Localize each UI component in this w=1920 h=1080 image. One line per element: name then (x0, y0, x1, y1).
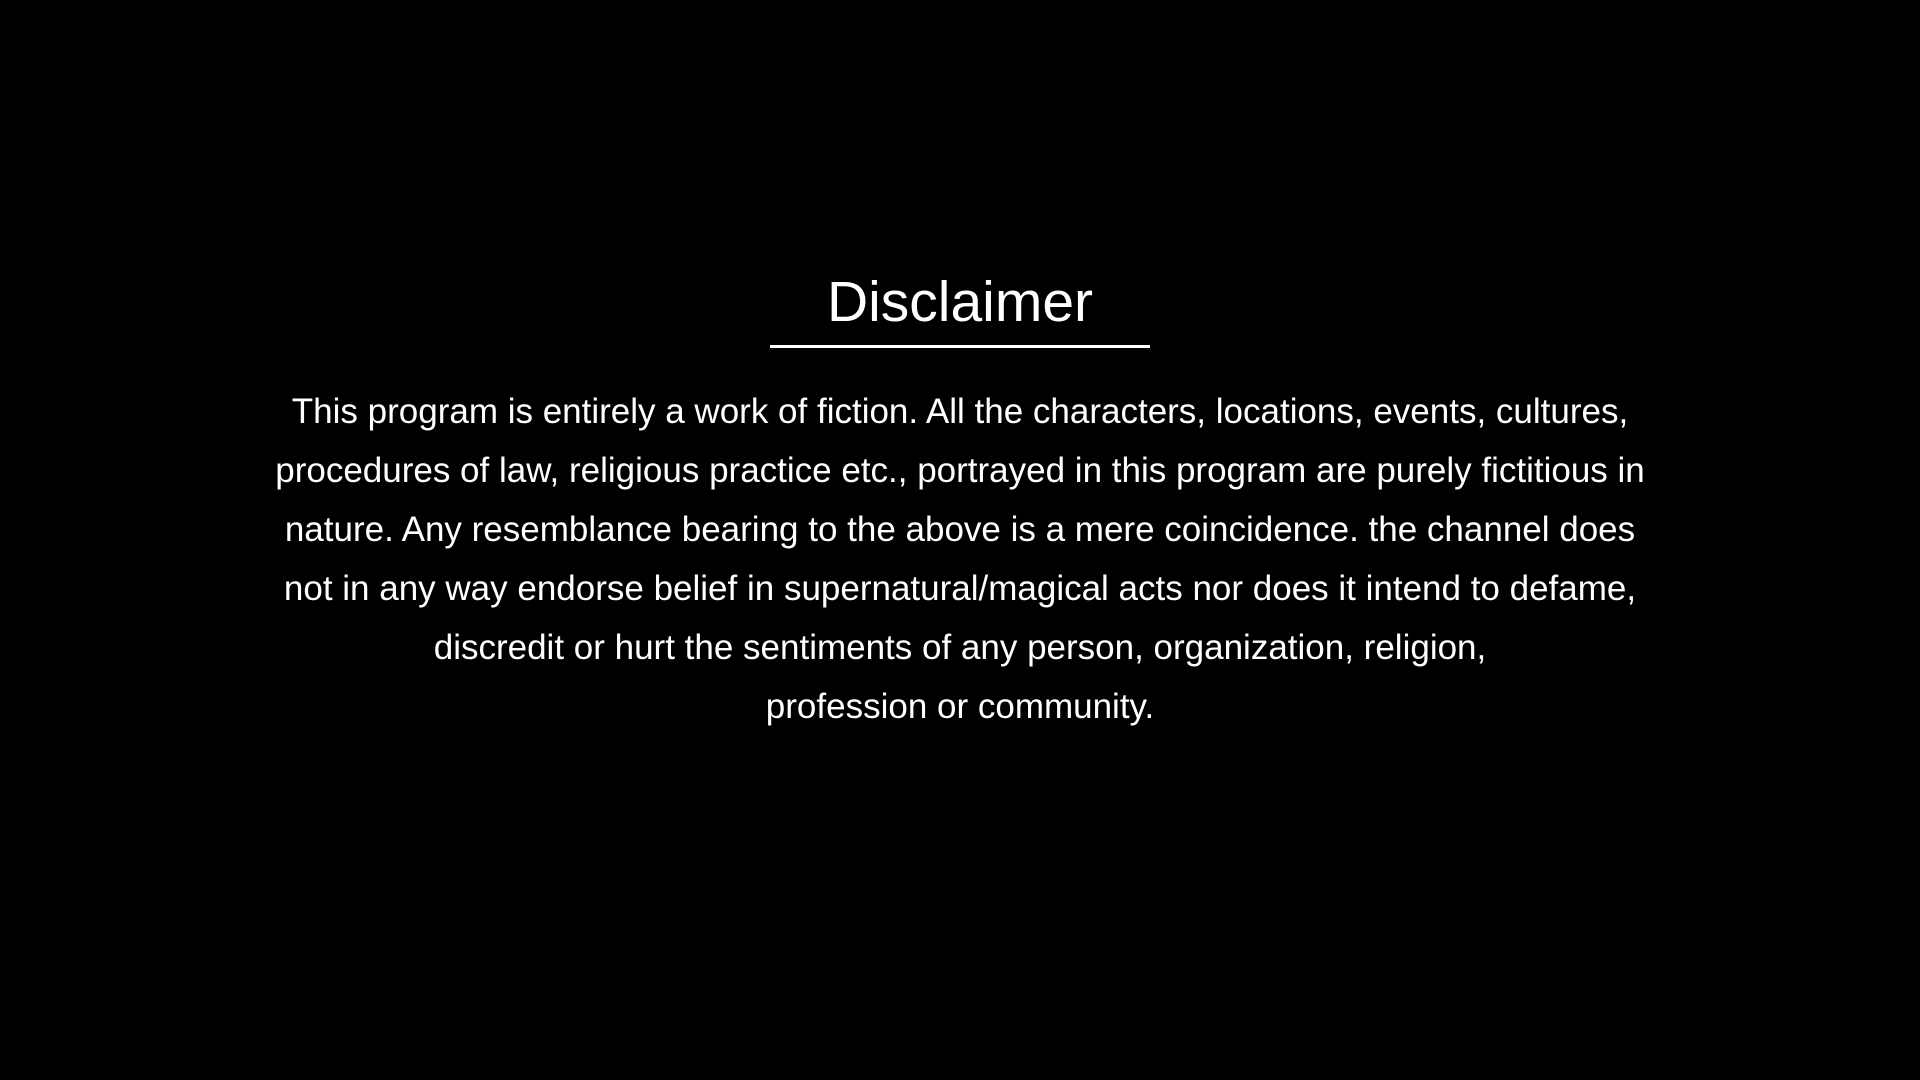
disclaimer-body-text: This program is entirely a work of ficti… (130, 382, 1790, 736)
disclaimer-slide: Disclaimer This program is entirely a wo… (0, 0, 1920, 1080)
disclaimer-line: discredit or hurt the sentiments of any … (130, 618, 1790, 677)
title-divider (770, 345, 1150, 348)
disclaimer-line: procedures of law, religious practice et… (130, 441, 1790, 500)
disclaimer-card: Disclaimer This program is entirely a wo… (110, 268, 1810, 736)
page-title: Disclaimer (827, 268, 1093, 336)
disclaimer-line: This program is entirely a work of ficti… (130, 382, 1790, 441)
disclaimer-line: not in any way endorse belief in superna… (130, 559, 1790, 618)
disclaimer-line: nature. Any resemblance bearing to the a… (130, 500, 1790, 559)
disclaimer-line: profession or community. (130, 677, 1790, 736)
